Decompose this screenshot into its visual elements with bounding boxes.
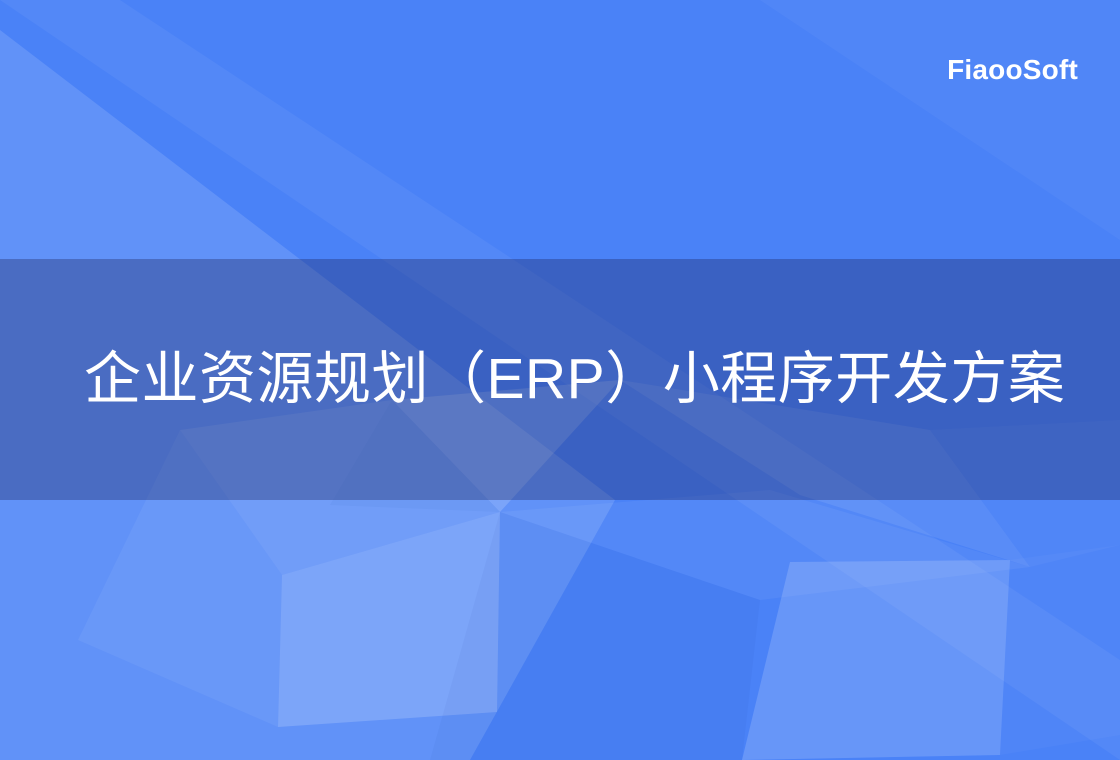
title-band: 企业资源规划（ERP）小程序开发方案: [0, 259, 1120, 500]
brand-logo-text: FiaooSoft: [947, 56, 1078, 84]
page-title: 企业资源规划（ERP）小程序开发方案: [0, 347, 1065, 413]
document-cover-page: FiaooSoft 企业资源规划（ERP）小程序开发方案: [0, 0, 1120, 760]
facet-right-edge-sliver: [1000, 545, 1120, 755]
